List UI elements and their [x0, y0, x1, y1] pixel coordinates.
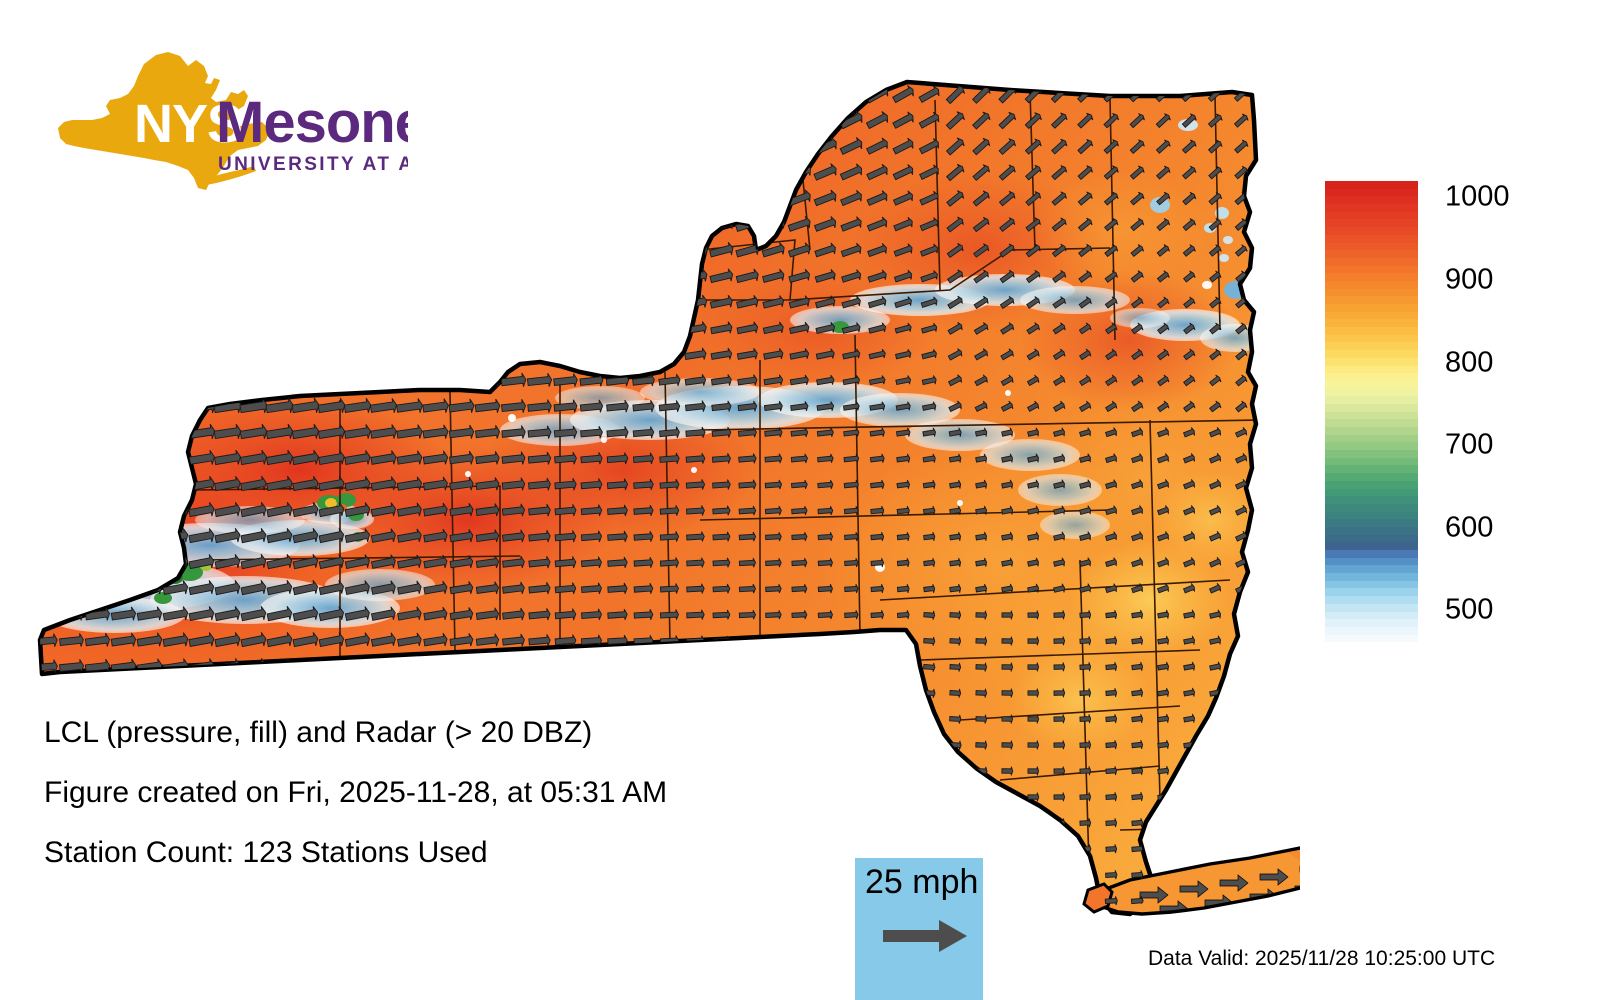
wind-arrow	[713, 662, 730, 672]
wind-arrow	[871, 662, 884, 672]
wind-arrow	[472, 215, 503, 235]
wind-arrow	[291, 85, 321, 104]
wind-arrow	[111, 580, 137, 597]
wind-arrow	[239, 111, 269, 130]
wind-arrow	[578, 268, 606, 286]
wind-arrow	[370, 372, 398, 391]
wind-arrow	[369, 241, 399, 261]
wind-arrow	[786, 109, 814, 132]
wind-arrow	[85, 581, 110, 598]
wind-arrow	[816, 817, 834, 828]
wind-arrow	[1158, 818, 1170, 828]
colorbar-segment	[1325, 319, 1418, 327]
colorbar-segment	[1325, 189, 1418, 197]
wind-arrow	[291, 918, 320, 935]
wind-arrow	[369, 345, 398, 364]
wind-arrow	[266, 684, 293, 702]
wind-arrow	[57, 346, 86, 364]
wind-arrow	[343, 918, 372, 935]
wind-arrow	[447, 163, 478, 183]
wind-arrow	[134, 85, 165, 105]
wind-arrow	[681, 162, 710, 184]
wind-arrow	[656, 215, 684, 235]
wind-arrow	[213, 215, 243, 234]
colorbar-segment	[1325, 296, 1418, 304]
wind-arrow	[502, 660, 525, 674]
wind-arrow	[317, 293, 348, 313]
wind-arrow	[842, 843, 860, 854]
wind-arrow	[1209, 844, 1221, 854]
wind-arrow	[291, 215, 321, 234]
colorbar-segment	[1325, 496, 1418, 504]
wind-arrow	[317, 163, 347, 182]
wind-arrow	[525, 268, 554, 287]
wind-arrow	[844, 662, 858, 672]
wind-arrow	[604, 268, 631, 286]
wind-arrow	[1260, 400, 1274, 414]
wind-arrow	[83, 918, 112, 935]
wind-arrow	[474, 346, 501, 364]
colorbar-segment	[1325, 481, 1418, 489]
wind-arrow	[317, 215, 347, 234]
wind-arrow	[108, 85, 139, 105]
wind-arrow	[1235, 922, 1247, 932]
wind-arrow	[450, 659, 474, 675]
wind-arrow	[975, 792, 987, 801]
wind-speed-legend: 25 mph	[855, 858, 983, 1000]
wind-arrow	[135, 345, 165, 364]
wind-arrow	[83, 241, 114, 261]
wind-arrow	[136, 450, 163, 468]
wind-arrow	[1053, 844, 1065, 853]
wind-arrow	[59, 529, 84, 545]
colorbar-segment	[1325, 596, 1418, 604]
wind-arrow	[57, 918, 86, 935]
wind-arrow	[1235, 740, 1247, 751]
wind-arrow	[683, 920, 707, 935]
wind-arrow	[239, 267, 270, 287]
wind-arrow	[317, 319, 347, 339]
wind-arrow	[239, 345, 269, 365]
wind-arrow	[1260, 296, 1274, 310]
colorbar-segment	[1325, 381, 1418, 389]
wind-arrow	[1260, 244, 1274, 258]
wind-arrow	[369, 163, 399, 182]
wind-arrow	[109, 372, 138, 391]
wind-arrow	[1131, 922, 1144, 932]
wind-arrow	[815, 920, 837, 934]
wind-arrow	[525, 215, 555, 235]
wind-arrow	[1260, 270, 1274, 284]
colorbar-segment	[1325, 473, 1418, 481]
colorbar-segment	[1325, 565, 1418, 573]
colorbar-segment	[1325, 442, 1418, 450]
wind-arrow	[395, 346, 424, 365]
wind-arrow	[447, 293, 476, 312]
wind-arrow	[265, 267, 296, 287]
wind-arrow	[291, 189, 321, 208]
wind-arrow	[343, 137, 373, 156]
wind-arrow	[85, 476, 111, 493]
wind-arrow	[136, 424, 164, 442]
wind-arrow	[109, 918, 138, 935]
wind-arrow	[111, 502, 137, 519]
wind-arrow	[291, 319, 322, 339]
wind-arrow	[423, 685, 448, 701]
colorbar-segment	[1325, 635, 1418, 643]
wind-arrow	[500, 320, 527, 338]
wind-arrow	[525, 241, 554, 260]
wind-arrow	[84, 372, 112, 390]
wind-arrow	[655, 162, 685, 184]
wind-arrow	[56, 84, 87, 105]
colorbar-gradient	[1325, 181, 1418, 643]
colorbar-tick-label: 600	[1445, 513, 1493, 542]
wind-arrow	[1259, 165, 1275, 180]
wind-arrow	[84, 424, 111, 441]
wind-arrow	[870, 714, 884, 724]
wind-arrow	[239, 189, 269, 208]
wind-arrow	[395, 111, 426, 131]
wind-arrow	[239, 241, 269, 261]
wind-arrow	[109, 241, 140, 261]
caption-block: LCL (pressure, fill) and Radar (> 20 DBZ…	[44, 718, 804, 898]
wind-arrow	[32, 372, 59, 389]
wind-arrow	[792, 662, 808, 671]
wind-arrow	[524, 84, 555, 106]
wind-arrow	[733, 109, 762, 132]
wind-arrow	[498, 189, 529, 209]
wind-arrow	[30, 136, 61, 157]
wind-arrow	[82, 137, 113, 157]
wind-arrow	[686, 662, 704, 673]
wind-arrow	[869, 818, 886, 828]
colorbar-segment	[1325, 519, 1418, 527]
wind-arrow	[628, 83, 660, 107]
wind-arrow	[135, 918, 164, 935]
wind-arrow	[526, 919, 554, 935]
wind-arrow	[108, 137, 139, 157]
wind-arrow	[1259, 113, 1275, 129]
wind-arrow	[137, 554, 163, 572]
wind-arrow	[1261, 531, 1274, 544]
wind-arrow	[605, 347, 629, 363]
wind-arrow	[500, 294, 528, 312]
wind-arrow	[1026, 896, 1040, 905]
wind-arrow	[265, 85, 295, 104]
wind-arrow	[657, 294, 682, 311]
colorbar-segment	[1325, 404, 1418, 412]
wind-arrow	[528, 660, 550, 674]
wind-arrow	[555, 660, 577, 673]
wind-arrow	[550, 162, 581, 183]
wind-arrow	[552, 268, 580, 287]
wind-arrow	[369, 918, 398, 935]
wind-arrow	[265, 163, 295, 182]
wind-arrow	[1209, 792, 1221, 802]
wind-arrow	[343, 345, 372, 364]
colorbar-segment	[1325, 350, 1418, 358]
wind-arrow	[1002, 793, 1014, 802]
wind-arrow	[605, 294, 631, 311]
wind-arrow	[135, 241, 166, 261]
wind-arrow	[214, 684, 241, 702]
wind-arrow	[634, 687, 654, 699]
wind-arrow	[1079, 922, 1093, 931]
wind-arrow	[710, 920, 734, 935]
wind-arrow	[818, 636, 833, 646]
colorbar-segment	[1325, 304, 1418, 312]
wind-arrow	[83, 346, 112, 365]
wind-arrow	[317, 189, 347, 208]
colorbar-segment	[1325, 573, 1418, 581]
wind-arrow	[33, 503, 58, 519]
wind-arrow	[317, 267, 348, 287]
wind-arrow	[83, 293, 114, 313]
wind-arrow	[1261, 661, 1274, 672]
wind-arrow	[844, 740, 859, 750]
wind-arrow	[682, 188, 710, 209]
wind-arrow	[818, 688, 833, 698]
wind-arrow	[291, 111, 321, 130]
wind-arrow	[682, 215, 709, 235]
wind-arrow	[83, 267, 114, 287]
wind-arrow	[31, 320, 60, 339]
wind-arrow	[369, 319, 399, 338]
wind-arrow	[135, 163, 166, 183]
wind-arrow	[1183, 922, 1195, 932]
wind-arrow	[1235, 844, 1247, 854]
wind-arrow	[109, 215, 140, 235]
wind-arrow	[187, 85, 217, 105]
colorbar-segment	[1325, 342, 1418, 350]
wind-arrow	[1105, 922, 1118, 932]
wind-arrow	[369, 189, 399, 208]
wind-arrow	[343, 111, 373, 130]
colorbar-segment	[1325, 389, 1418, 397]
wind-arrow	[680, 83, 711, 107]
wind-arrow	[739, 688, 756, 698]
colorbar-tick-label: 1000	[1445, 183, 1510, 212]
colorbar-segment	[1325, 588, 1418, 596]
wind-arrow	[111, 685, 137, 702]
wind-arrow	[422, 346, 450, 364]
colorbar-segment	[1325, 250, 1418, 258]
wind-arrow	[629, 162, 659, 184]
wind-arrow	[213, 85, 243, 104]
wind-arrow	[1026, 922, 1041, 931]
wind-arrow	[474, 320, 502, 338]
wind-arrow	[843, 792, 860, 802]
wind-arrow	[162, 450, 189, 468]
wind-arrow	[1184, 844, 1196, 854]
wind-arrow	[291, 163, 321, 182]
wind-arrow	[1259, 87, 1276, 103]
wind-arrow	[109, 267, 140, 287]
wind-arrow	[948, 818, 962, 827]
wind-arrow	[895, 818, 911, 828]
wind-arrow	[1183, 818, 1195, 828]
wind-arrow	[1260, 218, 1275, 232]
wind-arrow	[605, 920, 631, 935]
wind-arrow	[817, 766, 834, 776]
wind-arrow	[896, 766, 911, 776]
wind-arrow	[265, 215, 295, 234]
wind-arrow	[581, 661, 602, 674]
colorbar-segment	[1325, 489, 1418, 497]
wind-arrow	[397, 685, 423, 702]
wind-arrow	[161, 189, 191, 209]
wind-arrow	[82, 111, 113, 132]
wind-arrow	[395, 267, 426, 287]
wind-arrow	[187, 189, 217, 208]
wind-arrow	[658, 321, 682, 337]
wind-arrow	[922, 844, 937, 853]
wind-arrow	[213, 163, 243, 182]
wind-arrow	[660, 661, 679, 672]
wind-arrow	[792, 688, 808, 697]
wind-arrow	[1261, 427, 1274, 440]
wind-arrow	[897, 636, 909, 646]
wind-arrow	[707, 83, 737, 107]
wind-arrow	[897, 662, 910, 672]
wind-arrow	[239, 918, 268, 935]
wind-arrow	[896, 740, 910, 750]
wind-arrow	[630, 241, 658, 260]
wind-arrow	[760, 136, 788, 158]
wind-arrow	[473, 241, 503, 261]
wind-arrow	[524, 136, 555, 157]
colorbar-segment	[1325, 181, 1418, 189]
wind-arrow	[395, 163, 425, 183]
wind-arrow	[577, 188, 607, 209]
wind-arrow	[631, 321, 656, 337]
wind-arrow	[949, 792, 962, 801]
wind-arrow	[34, 607, 58, 622]
wind-arrow	[187, 241, 217, 261]
wind-arrow	[30, 189, 61, 210]
wind-arrow	[56, 136, 87, 157]
wind-arrow	[162, 476, 189, 494]
wind-arrow	[500, 919, 528, 936]
colorbar-segment	[1325, 358, 1418, 366]
wind-arrow	[602, 83, 634, 107]
wind-arrow	[816, 869, 836, 882]
wind-arrow	[187, 918, 216, 935]
wind-arrow	[59, 477, 85, 493]
wind-arrow	[395, 85, 426, 105]
wind-arrow	[526, 320, 553, 337]
wind-arrow	[188, 684, 215, 702]
wind-arrow	[449, 685, 474, 701]
wind-arrow	[681, 109, 711, 132]
wind-arrow	[161, 293, 192, 313]
wind-arrow	[447, 215, 478, 235]
wind-arrow	[265, 918, 294, 935]
wind-arrow	[369, 111, 399, 130]
wind-arrow	[975, 845, 989, 854]
wind-arrow	[109, 163, 140, 183]
wind-arrow	[30, 162, 61, 183]
wind-arrow	[421, 163, 452, 183]
wind-arrow	[110, 476, 136, 493]
wind-arrow	[577, 241, 606, 260]
colorbar-segment	[1325, 266, 1418, 274]
wind-arrow	[870, 766, 885, 776]
colorbar-segment	[1325, 581, 1418, 589]
wind-arrow	[447, 241, 478, 261]
wind-arrow	[136, 502, 163, 520]
wind-arrow	[318, 684, 345, 702]
wind-arrow	[628, 135, 659, 158]
wind-arrow	[843, 818, 861, 829]
colorbar-tick-label: 700	[1445, 430, 1493, 459]
wind-arrow	[552, 294, 579, 312]
wind-arrow	[577, 215, 606, 235]
wind-arrow	[161, 319, 192, 339]
colorbar-segment	[1325, 427, 1418, 435]
wind-arrow	[707, 109, 737, 132]
wind-arrow	[922, 792, 936, 802]
wind-arrow	[265, 111, 295, 130]
wind-arrow	[162, 398, 191, 417]
wind-arrow	[660, 687, 679, 698]
wind-arrow	[58, 398, 85, 415]
caption-line-created: Figure created on Fri, 2025-11-28, at 05…	[44, 778, 804, 808]
wind-arrow	[369, 215, 399, 235]
wind-arrow	[713, 688, 731, 698]
wind-arrow	[239, 293, 270, 313]
colorbar-segment	[1325, 612, 1418, 620]
wind-arrow	[1261, 505, 1274, 518]
wind-arrow	[498, 136, 529, 157]
wind-arrow	[1209, 766, 1221, 776]
wind-arrow	[472, 189, 503, 209]
wind-arrow	[85, 555, 110, 572]
wind-arrow	[369, 85, 399, 105]
wind-arrow	[213, 241, 243, 261]
wind-arrow	[1235, 818, 1247, 828]
wind-arrow	[844, 636, 858, 646]
wind-arrow	[187, 293, 218, 313]
wind-arrow	[161, 137, 191, 157]
wind-arrow	[136, 398, 164, 416]
wind-arrow	[213, 267, 244, 287]
wind-arrow	[654, 109, 685, 132]
wind-arrow	[292, 684, 319, 702]
wind-arrow	[110, 450, 137, 467]
wind-arrow	[581, 687, 602, 700]
wind-arrow	[498, 215, 529, 235]
wind-arrow	[923, 766, 937, 776]
wind-legend-arrow-icon	[881, 916, 971, 956]
colorbar-segment	[1325, 435, 1418, 443]
wind-arrow	[421, 241, 452, 261]
wind-arrow	[736, 920, 759, 934]
wind-arrow	[1235, 766, 1247, 777]
wind-arrow	[187, 163, 217, 182]
wind-arrow	[785, 83, 813, 106]
wind-arrow	[135, 293, 166, 313]
wind-arrow	[844, 688, 858, 698]
wind-arrow	[265, 371, 294, 390]
wind-arrow	[631, 920, 656, 935]
wind-arrow	[473, 294, 502, 313]
wind-arrow	[33, 685, 58, 700]
wind-arrow	[1079, 870, 1091, 879]
wind-arrow	[500, 346, 527, 363]
wind-arrow	[187, 371, 216, 390]
